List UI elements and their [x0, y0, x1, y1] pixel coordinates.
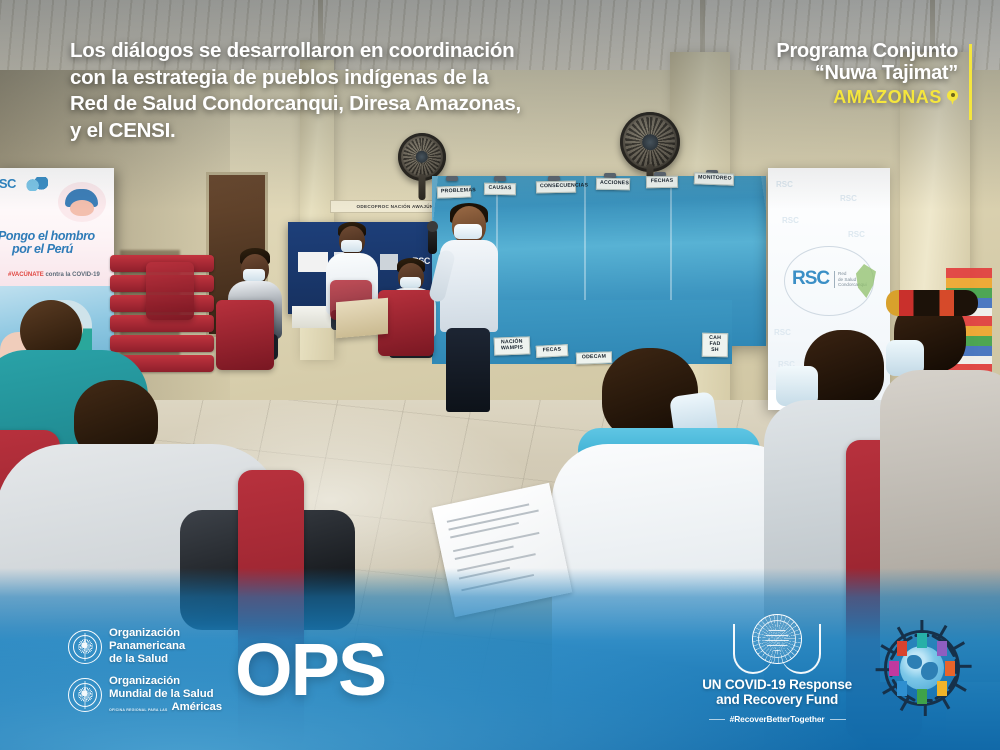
un-emblem-icon [731, 612, 823, 674]
paho-text-block: Organización Panamericana de la Salud Or… [68, 627, 222, 714]
un-hashtag: #RecoverBetterTogether [730, 714, 825, 724]
program-title-line-1: Programa Conjunto [776, 40, 958, 62]
covid-virus-globe-icon [870, 616, 974, 720]
region-name: Américas [172, 701, 223, 714]
regional-office-caption: OFICINA REGIONAL PARA LAS [109, 708, 168, 714]
headline-line-3: Red de Salud Condorcanqui, Diresa Amazon… [70, 91, 610, 118]
virus-spike [957, 665, 972, 668]
virus-spike [951, 641, 966, 651]
program-region: AMAZONAS [776, 87, 958, 108]
community-figure-icon [897, 681, 907, 696]
feather-headdress-icon [886, 290, 978, 316]
location-pin-icon [947, 90, 958, 105]
banner-slogan: Pongo el hombro por el Perú [0, 230, 114, 256]
who-row: Organización Mundial de la Salud OFICINA… [68, 675, 222, 714]
watermark: RSC [782, 216, 799, 225]
paho-row: Organización Panamericana de la Salud [68, 627, 222, 666]
headline-line-1: Los diálogos se desarrollaron en coordin… [70, 38, 610, 65]
un-title-line-1: UN COVID-19 Response [702, 677, 852, 693]
cardboard-box [336, 298, 388, 339]
community-figure-icon [917, 633, 927, 648]
community-figure-icon [917, 689, 927, 704]
community-figure-icon [937, 641, 947, 656]
region-line: OFICINA REGIONAL PARA LAS Américas [109, 701, 222, 714]
banner-campaign-tag: #VACÚNATE contra la COVID-19 [8, 272, 100, 278]
watermark: RSC [848, 230, 865, 239]
un-text-block: UN COVID-19 Response and Recovery Fund #… [702, 612, 852, 724]
red-chair [216, 300, 274, 370]
paho-ops-logo-lockup: Organización Panamericana de la Salud Or… [68, 627, 385, 714]
face-mask-icon [454, 224, 482, 239]
program-lockup: Programa Conjunto “Nuwa Tajimat” AMAZONA… [776, 40, 972, 108]
social-media-card: RSC Pongo el hombro por el Perú #VACÚNAT… [0, 0, 1000, 750]
un-covid-fund-lockup: UN COVID-19 Response and Recovery Fund #… [702, 612, 974, 724]
accent-divider [969, 44, 972, 120]
red-chair [146, 262, 194, 320]
trousers [446, 328, 490, 412]
paho-seal-icon [68, 630, 102, 664]
headline-text: Los diálogos se desarrollaron en coordin… [70, 38, 610, 145]
un-hashtag-row: #RecoverBetterTogether [709, 714, 846, 724]
community-figure-icon [945, 661, 955, 676]
headline-line-4: y el CENSI. [70, 118, 610, 145]
un-fund-title: UN COVID-19 Response and Recovery Fund [702, 677, 852, 708]
microphone-icon [428, 228, 437, 254]
speaker-presenter [438, 206, 500, 412]
who-name: Organización Mundial de la Salud OFICINA… [109, 675, 222, 714]
who-seal-icon [68, 678, 102, 712]
community-figure-icon [889, 661, 899, 676]
ops-acronym: OPS [235, 640, 385, 701]
program-title-line-2: “Nuwa Tajimat” [776, 62, 958, 84]
rsc-logo-text: RSC [792, 268, 829, 290]
un-title-line-2: and Recovery Fund [702, 692, 852, 708]
community-figure-icon [937, 681, 947, 696]
partner-logo [298, 252, 328, 272]
region-label: AMAZONAS [833, 87, 942, 108]
community-figure-icon [897, 641, 907, 656]
paho-name: Organización Panamericana de la Salud [109, 627, 185, 666]
headline-line-2: con la estrategia de pueblos indígenas d… [70, 65, 610, 92]
